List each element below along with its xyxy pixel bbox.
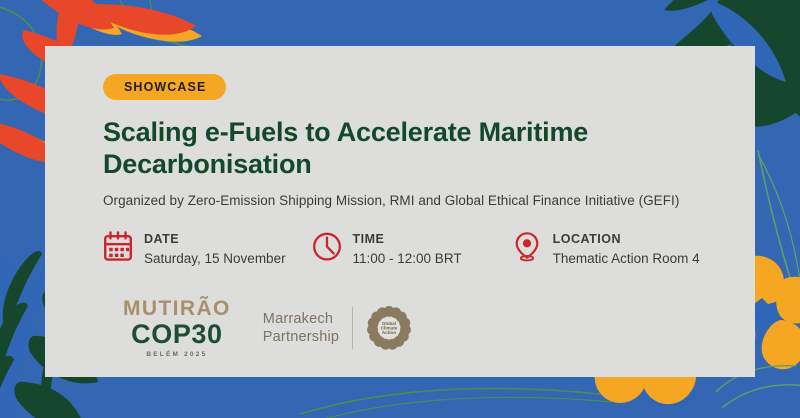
detail-time: TIME 11:00 - 12:00 BRT — [312, 230, 512, 268]
page-title: Scaling e-Fuels to Accelerate Maritime D… — [103, 116, 703, 181]
cop30-logo-belem: BELÉM 2025 — [123, 352, 231, 359]
event-card: SHOWCASE Scaling e-Fuels to Accelerate M… — [45, 46, 755, 377]
cop30-logo-cop30: COP30 — [123, 321, 231, 348]
detail-label-time: TIME — [353, 232, 385, 246]
cop30-logo: MUTIRÃO COP30 BELÉM 2025 — [123, 298, 231, 359]
vine-lines-bottom-center — [300, 380, 620, 418]
detail-date: DATE Saturday, 15 November — [103, 230, 312, 268]
status-badge: SHOWCASE — [103, 74, 226, 100]
marrakech-line-1: Marrakech — [263, 310, 339, 329]
detail-value-date: Saturday, 15 November — [144, 251, 286, 268]
logo-divider — [352, 307, 353, 349]
detail-value-time: 11:00 - 12:00 BRT — [353, 251, 462, 268]
map-pin-icon — [512, 231, 542, 263]
detail-label-location: LOCATION — [553, 232, 621, 246]
calendar-icon — [103, 231, 133, 263]
poster-canvas: SHOWCASE Scaling e-Fuels to Accelerate M… — [0, 0, 800, 418]
detail-value-location: Thematic Action Room 4 — [553, 251, 700, 268]
event-details-row: DATE Saturday, 15 November TIME — [103, 230, 735, 268]
seal-line-3: Action — [382, 330, 396, 335]
detail-label-date: DATE — [144, 232, 179, 246]
logo-strip: MUTIRÃO COP30 BELÉM 2025 Marrakech Partn… — [123, 298, 412, 359]
marrakech-partnership-logo: Marrakech Partnership — [263, 305, 412, 351]
global-climate-action-seal-icon: Global Climate Action — [366, 305, 412, 351]
cop30-logo-mutirao: MUTIRÃO — [123, 298, 231, 319]
clock-icon — [312, 231, 342, 263]
detail-location: LOCATION Thematic Action Room 4 — [512, 230, 735, 268]
marrakech-line-2: Partnership — [263, 328, 339, 347]
organizers-line: Organized by Zero-Emission Shipping Miss… — [103, 193, 735, 208]
